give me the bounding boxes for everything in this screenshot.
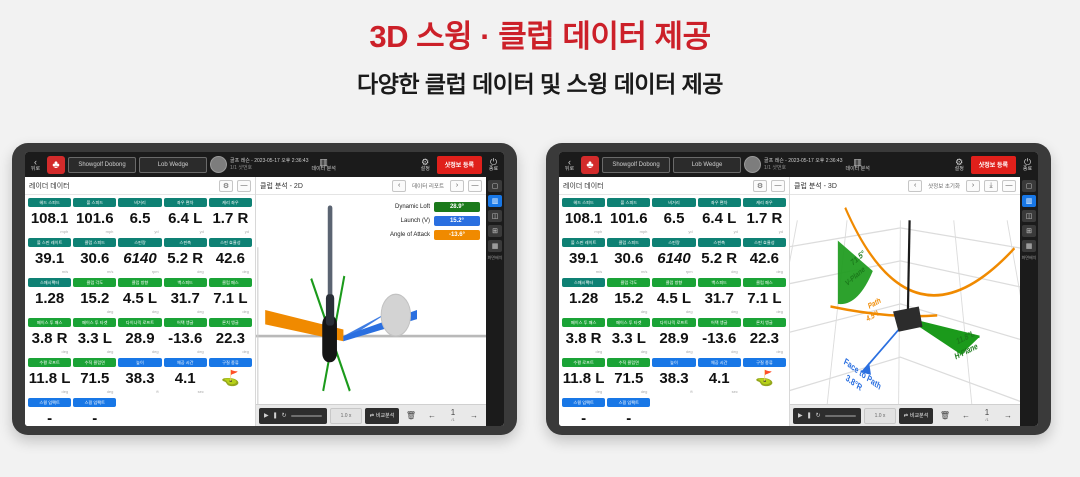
settings-button[interactable]: ⚙ 설정 bbox=[951, 154, 968, 176]
radar-pane-title: 레이더 데이터 bbox=[563, 181, 604, 191]
club-analysis-pane-3d: 클럽 분석 - 3D ‹ 샷정보 초기화 › ⤓ — bbox=[790, 177, 1020, 426]
badge-value: -13.6° bbox=[434, 230, 480, 240]
radar-cell-label: 클럽 각도 bbox=[73, 278, 116, 287]
radar-pane-header-left: 레이더 데이터 ⚙ — bbox=[25, 177, 255, 195]
radar-cell[interactable]: 클럽 방향4.5 Ldeg bbox=[118, 278, 161, 316]
club-2d-canvas[interactable]: Dynamic Loft 28.9° Launch (V) 15.2° Angl… bbox=[256, 195, 486, 404]
radar-cell[interactable]: 어택 앵글-13.6deg bbox=[698, 318, 741, 356]
radar-cell-unit: deg bbox=[607, 349, 650, 356]
radar-cell-label: 캐리 좌우 bbox=[743, 198, 786, 207]
radar-cell[interactable]: 다이나믹 로프트28.9deg bbox=[652, 318, 695, 356]
club-selector[interactable]: Lob Wedge bbox=[139, 157, 207, 173]
playback-speed[interactable]: 1.0 x bbox=[330, 408, 362, 424]
radar-cell[interactable]: 스핀량6140rpm bbox=[118, 238, 161, 276]
analysis-label: 데이터 분석 bbox=[845, 167, 869, 172]
layout-quad-icon[interactable]: ⊞ bbox=[488, 225, 502, 237]
radar-cell-unit: deg bbox=[607, 309, 650, 316]
gear-icon[interactable]: ⚙ bbox=[753, 180, 767, 192]
radar-cell[interactable]: 스매시팩터1.28 bbox=[562, 278, 605, 316]
radar-cell-unit: deg bbox=[652, 309, 695, 316]
radar-cell[interactable]: 페이스 투 패스3.8 Rdeg bbox=[28, 318, 71, 356]
app-top-bar-right: ‹ 뒤로 ♣ Showgolf Dobong Lob Wedge 골프 레슨 -… bbox=[559, 152, 1038, 177]
radar-cell[interactable]: 스핀량6140rpm bbox=[652, 238, 695, 276]
loop-icon[interactable]: ↻ bbox=[282, 412, 287, 419]
radar-cell-label: 수직 클럽면 bbox=[607, 358, 650, 367]
radar-cell-label: 클럽 스피드 bbox=[73, 238, 116, 247]
radar-cell-unit: rpm bbox=[118, 269, 161, 276]
radar-data-pane-right: 레이더 데이터 ⚙ — 헤드 스피드108.1mph볼 스피드101.6mph비… bbox=[559, 177, 790, 426]
shot-number-label: 1/1 샷번호 bbox=[764, 165, 842, 172]
radar-cell-label: 스윙 임팩트 bbox=[562, 398, 605, 407]
compare-icon: ⇄ bbox=[904, 413, 908, 419]
radar-cell-label: 비거리 bbox=[118, 198, 161, 207]
radar-cell-label: 스윙 임팩트 bbox=[28, 398, 71, 407]
play-icon[interactable]: ▶ bbox=[264, 412, 269, 419]
radar-cell-value: 30.6 bbox=[607, 247, 650, 269]
radar-pane-header-right: 레이더 데이터 ⚙ — bbox=[559, 177, 789, 195]
radar-cell-value: ⛳ bbox=[209, 367, 252, 389]
shot-session-label: 골프 레슨 - 2023-05-17 오후 2:36:43 bbox=[230, 158, 308, 165]
app-body-right: 레이더 데이터 ⚙ — 헤드 스피드108.1mph볼 스피드101.6mph비… bbox=[559, 177, 1038, 426]
radar-cell[interactable]: 체공 시간4.1sec bbox=[164, 358, 207, 396]
radar-data-grid-left: 헤드 스피드108.1mph볼 스피드101.6mph비거리6.5yd좌우 편차… bbox=[25, 195, 255, 426]
playback-track[interactable]: ▶ ❚ ↻ bbox=[259, 408, 327, 424]
club-3d-canvas[interactable]: 71.5° V-Plane Path 4.5°L Face to Path 3.… bbox=[790, 195, 1020, 404]
minimize-icon[interactable]: — bbox=[237, 180, 251, 192]
analysis-button[interactable]: ▥ 데이터 분석 bbox=[311, 154, 335, 176]
radar-cell-value: 30.6 bbox=[73, 247, 116, 269]
radar-cell-value: 3.3 L bbox=[73, 327, 116, 349]
radar-cell-value: 1.28 bbox=[28, 287, 71, 309]
exit-button[interactable]: ⏻ 종료 bbox=[485, 154, 502, 176]
radar-cell-unit: deg bbox=[209, 349, 252, 356]
analysis-label: 데이터 분석 bbox=[311, 167, 335, 172]
radar-cell-label: 페이스 투 타겟 bbox=[607, 318, 650, 327]
shot-meta: 골프 레슨 - 2023-05-17 오후 2:36:43 1/1 샷번호 bbox=[230, 158, 308, 172]
club-3d-header: 클럽 분석 - 3D ‹ 샷정보 초기화 › ⤓ — bbox=[790, 177, 1020, 195]
radar-cell[interactable]: 볼 스피드101.6mph bbox=[73, 198, 116, 236]
step-icon[interactable]: ❚ bbox=[807, 412, 812, 419]
minimize-icon[interactable]: — bbox=[468, 180, 482, 192]
radar-cell-label: 스핑 임팩트 bbox=[607, 398, 650, 407]
compare-label: 비교분석 bbox=[376, 412, 394, 419]
playback-speed[interactable]: 1.0 x bbox=[864, 408, 896, 424]
radar-cell[interactable]: 백스피드31.7deg bbox=[164, 278, 207, 316]
layout-grid-icon[interactable]: ▦ bbox=[1022, 240, 1036, 252]
radar-cell[interactable]: 클럽 방향4.5 Ldeg bbox=[652, 278, 695, 316]
radar-cell-value: 5.2 R bbox=[698, 247, 741, 269]
page-total: /1 bbox=[985, 417, 988, 422]
headings-block: 3D 스윙 · 클럽 데이터 제공 다양한 클럽 데이터 및 스윙 데이터 제공 bbox=[0, 0, 1080, 99]
radar-cell-label: 백스피드 bbox=[164, 278, 207, 287]
radar-cell-value: 22.3 bbox=[209, 327, 252, 349]
radar-cell[interactable]: 페이스 투 타겟3.3 Ldeg bbox=[73, 318, 116, 356]
rail-footer-label: 화면배치 bbox=[1022, 255, 1037, 260]
radar-cell[interactable]: 체공 시간4.1sec bbox=[698, 358, 741, 396]
bottom-toolbar-right: ▶ ❚ ↻ 1.0 x ⇄ 비교분석 🗑 ← 1 bbox=[790, 404, 1020, 426]
radar-cell-label: 클럽 패스 bbox=[743, 278, 786, 287]
radar-cell-label: 어택 앵글 bbox=[698, 318, 741, 327]
radar-cell-unit: yd bbox=[164, 229, 207, 236]
radar-cell-label: 다이나믹 로프트 bbox=[118, 318, 161, 327]
radar-cell-label: 볼 스핀 레이트 bbox=[28, 238, 71, 247]
club-2d-badges: Dynamic Loft 28.9° Launch (V) 15.2° Angl… bbox=[390, 202, 480, 240]
radar-cell-label: 다이나믹 로프트 bbox=[652, 318, 695, 327]
radar-cell[interactable]: 수평 로프트11.8 Ldeg bbox=[562, 358, 605, 396]
radar-cell-unit: yd bbox=[118, 229, 161, 236]
radar-cell[interactable]: 스윙 임팩트-deg bbox=[562, 398, 605, 426]
radar-cell-label: 스핀축 bbox=[164, 238, 207, 247]
layout-split-icon[interactable]: ▥ bbox=[1022, 195, 1036, 207]
compare-button[interactable]: ⇄ 비교분석 bbox=[365, 408, 399, 424]
radar-cell-value: - bbox=[607, 407, 650, 426]
radar-cell[interactable]: 스핀 효율성42.6deg bbox=[209, 238, 252, 276]
radar-cell[interactable]: 다이나믹 로프트28.9deg bbox=[118, 318, 161, 356]
club-analysis-pane-2d: 클럽 분석 - 2D ‹ 데이터 리포트 › — Dynamic Loft 28… bbox=[256, 177, 486, 426]
radar-cell-unit: yd bbox=[698, 229, 741, 236]
radar-cell-value: 3.3 L bbox=[607, 327, 650, 349]
radar-cell-unit: deg bbox=[743, 309, 786, 316]
radar-cell-value: 6140 bbox=[118, 247, 161, 269]
radar-data-pane-left: 레이더 데이터 ⚙ — 헤드 스피드108.1mph볼 스피드101.6mph비… bbox=[25, 177, 256, 426]
radar-cell[interactable]: 클럽 패스7.1 Ldeg bbox=[743, 278, 786, 316]
radar-cell[interactable]: 볼 스피드101.6mph bbox=[607, 198, 650, 236]
ball-icon bbox=[210, 156, 227, 173]
radar-cell-label: 페이스 투 패스 bbox=[562, 318, 605, 327]
arrow-left-icon[interactable]: ← bbox=[957, 408, 975, 424]
radar-cell-value: 3.8 R bbox=[28, 327, 71, 349]
radar-cell-value: 11.8 L bbox=[28, 367, 71, 389]
settings-label: 설정 bbox=[955, 167, 964, 172]
badge-dynamic-loft: Dynamic Loft 28.9° bbox=[390, 202, 480, 212]
radar-cell-value: 1.7 R bbox=[743, 207, 786, 229]
radar-cell-label: 페이스 투 타겟 bbox=[73, 318, 116, 327]
layout-quad-icon[interactable]: ⊞ bbox=[1022, 225, 1036, 237]
club-selector[interactable]: Lob Wedge bbox=[673, 157, 741, 173]
radar-cell-value: 4.1 bbox=[698, 367, 741, 389]
timeline-scrubber[interactable] bbox=[825, 415, 856, 417]
radar-cell-label: 클럽 방향 bbox=[652, 278, 695, 287]
badge-value: 28.9° bbox=[434, 202, 480, 212]
exit-button[interactable]: ⏻ 종료 bbox=[1019, 154, 1036, 176]
radar-cell-value: 1.28 bbox=[562, 287, 605, 309]
layout-sidebar-icon[interactable]: ◫ bbox=[488, 210, 502, 222]
radar-cell[interactable]: 헤드 스피드108.1mph bbox=[562, 198, 605, 236]
radar-cell-unit: deg bbox=[164, 349, 207, 356]
badge-value: 15.2° bbox=[434, 216, 480, 226]
radar-cell-value: 108.1 bbox=[28, 207, 71, 229]
page-number: 1 bbox=[451, 409, 455, 417]
radar-cell-label: 볼 스핀 레이트 bbox=[562, 238, 605, 247]
radar-cell[interactable]: 스핑 임팩트-deg bbox=[607, 398, 650, 426]
record-shot-button[interactable]: 샷정보 등록 bbox=[971, 156, 1016, 174]
app-logo-icon: ♣ bbox=[47, 156, 65, 174]
radar-cell-unit: m/s bbox=[607, 269, 650, 276]
radar-cell-unit: deg bbox=[209, 269, 252, 276]
play-icon[interactable]: ▶ bbox=[798, 412, 803, 419]
radar-cell[interactable]: 비거리6.5yd bbox=[652, 198, 695, 236]
radar-cell[interactable]: 캐리 좌우1.7 Ryd bbox=[743, 198, 786, 236]
shot-number-label: 1/1 샷번호 bbox=[230, 165, 308, 172]
radar-cell-unit: yd bbox=[652, 229, 695, 236]
page-number: 1 bbox=[985, 409, 989, 417]
app-top-bar-left: ‹ 뒤로 ♣ Showgolf Dobong Lob Wedge 골프 레슨 -… bbox=[25, 152, 504, 177]
radar-cell-unit: deg bbox=[743, 349, 786, 356]
radar-cell-label: 체공 시간 bbox=[164, 358, 207, 367]
chevron-left-icon[interactable]: ‹ bbox=[392, 180, 406, 192]
radar-cell-unit: deg bbox=[698, 269, 741, 276]
radar-cell-label: 비거리 bbox=[652, 198, 695, 207]
gear-icon[interactable]: ⚙ bbox=[219, 180, 233, 192]
radar-cell-unit bbox=[209, 389, 252, 396]
radar-cell-label: 수직 클럽면 bbox=[73, 358, 116, 367]
radar-cell-value: 6.4 L bbox=[164, 207, 207, 229]
arrow-right-icon[interactable]: → bbox=[999, 408, 1017, 424]
radar-cell-unit bbox=[28, 309, 71, 316]
radar-cell[interactable]: 수직 클럽면71.5deg bbox=[73, 358, 116, 396]
radar-cell-value: 15.2 bbox=[607, 287, 650, 309]
radar-cell-label: 좌우 편차 bbox=[164, 198, 207, 207]
loop-icon[interactable]: ↻ bbox=[816, 412, 821, 419]
page-subtitle: 다양한 클럽 데이터 및 스윙 데이터 제공 bbox=[0, 65, 1080, 99]
page-root: 3D 스윙 · 클럽 데이터 제공 다양한 클럽 데이터 및 스윙 데이터 제공… bbox=[0, 0, 1080, 477]
radar-cell[interactable]: 론치 앵글22.3deg bbox=[743, 318, 786, 356]
radar-cell-label: 페이스 투 패스 bbox=[28, 318, 71, 327]
radar-cell[interactable]: 헤드 스피드108.1mph bbox=[28, 198, 71, 236]
radar-cell-unit: deg bbox=[698, 349, 741, 356]
layout-sidebar-icon[interactable]: ◫ bbox=[1022, 210, 1036, 222]
radar-cell[interactable]: 좌우 편차6.4 Lyd bbox=[164, 198, 207, 236]
back-label: 뒤로 bbox=[565, 167, 574, 172]
radar-cell-label: 스핀축 bbox=[698, 238, 741, 247]
radar-cell-value: - bbox=[73, 407, 116, 426]
radar-cell-value: 7.1 L bbox=[743, 287, 786, 309]
badge-label: Launch (V) bbox=[401, 218, 430, 224]
radar-cell-unit: yd bbox=[209, 229, 252, 236]
radar-cell[interactable]: 구질 종류⛳ bbox=[743, 358, 786, 396]
page-total: /1 bbox=[451, 417, 454, 422]
radar-cell[interactable]: 페이스 투 타겟3.3 Ldeg bbox=[607, 318, 650, 356]
radar-cell-value: 101.6 bbox=[607, 207, 650, 229]
timeline-scrubber[interactable] bbox=[291, 415, 322, 417]
radar-cell-label: 클럽 스피드 bbox=[607, 238, 650, 247]
radar-cell-value: - bbox=[562, 407, 605, 426]
radar-cell-value: 31.7 bbox=[164, 287, 207, 309]
radar-cell-value: 4.5 L bbox=[118, 287, 161, 309]
radar-cell-value: 15.2 bbox=[73, 287, 116, 309]
radar-cell[interactable]: 볼 스핀 레이트39.1m/s bbox=[28, 238, 71, 276]
playback-track[interactable]: ▶ ❚ ↻ bbox=[793, 408, 861, 424]
radar-cell[interactable]: 캐리 좌우1.7 Ryd bbox=[209, 198, 252, 236]
radar-cell[interactable]: 수평 로프트11.8 Ldeg bbox=[28, 358, 71, 396]
radar-cell-unit: deg bbox=[607, 389, 650, 396]
radar-pane-title: 레이더 데이터 bbox=[29, 181, 70, 191]
radar-cell[interactable]: 스핀축5.2 Rdeg bbox=[164, 238, 207, 276]
radar-cell-unit: deg bbox=[118, 349, 161, 356]
radar-cell[interactable]: 스핀축5.2 Rdeg bbox=[698, 238, 741, 276]
back-label: 뒤로 bbox=[31, 167, 40, 172]
radar-cell-unit: ft bbox=[118, 389, 161, 396]
exit-label: 종료 bbox=[489, 167, 498, 172]
record-shot-button[interactable]: 샷정보 등록 bbox=[437, 156, 482, 174]
reset-label: 샷정보 초기화 bbox=[926, 182, 962, 190]
radar-cell-unit: sec bbox=[164, 389, 207, 396]
radar-cell-unit: deg bbox=[652, 349, 695, 356]
radar-cell-label: 클럽 각도 bbox=[607, 278, 650, 287]
radar-cell[interactable]: 클럽 스피드30.6m/s bbox=[73, 238, 116, 276]
radar-cell-label: 높이 bbox=[652, 358, 695, 367]
layout-split-icon[interactable]: ▥ bbox=[488, 195, 502, 207]
report-label: 데이터 리포트 bbox=[410, 182, 446, 190]
trash-icon[interactable]: 🗑 bbox=[402, 408, 420, 424]
radar-cell-unit: deg bbox=[73, 309, 116, 316]
radar-cell-value: - bbox=[28, 407, 71, 426]
radar-cell-label: 론치 앵글 bbox=[743, 318, 786, 327]
radar-cell-label: 높이 bbox=[118, 358, 161, 367]
store-selector[interactable]: Showgolf Dobong bbox=[68, 157, 136, 173]
radar-cell-value: 6.4 L bbox=[698, 207, 741, 229]
rail-footer-label: 화면배치 bbox=[488, 255, 503, 260]
radar-cell[interactable]: 비거리6.5yd bbox=[118, 198, 161, 236]
radar-cell-unit: deg bbox=[73, 389, 116, 396]
radar-cell-unit: deg bbox=[164, 309, 207, 316]
radar-cell[interactable]: 론치 앵글22.3deg bbox=[209, 318, 252, 356]
radar-cell[interactable]: 클럽 패스7.1 Ldeg bbox=[209, 278, 252, 316]
radar-cell[interactable]: 스핑 임팩트-deg bbox=[73, 398, 116, 426]
radar-cell-label: 수평 로프트 bbox=[562, 358, 605, 367]
radar-cell[interactable]: 높이38.3ft bbox=[652, 358, 695, 396]
radar-cell-unit: deg bbox=[164, 269, 207, 276]
radar-cell[interactable]: 클럽 각도15.2deg bbox=[607, 278, 650, 316]
chevron-right-icon[interactable]: › bbox=[450, 180, 464, 192]
arrow-left-icon[interactable]: ← bbox=[423, 408, 441, 424]
radar-cell[interactable]: 페이스 투 패스3.8 Rdeg bbox=[562, 318, 605, 356]
radar-cell-unit: m/s bbox=[562, 269, 605, 276]
radar-cell-label: 캐리 좌우 bbox=[209, 198, 252, 207]
radar-cell-unit bbox=[562, 309, 605, 316]
radar-cell[interactable]: 스윙 임팩트-deg bbox=[28, 398, 71, 426]
radar-cell-value: 42.6 bbox=[209, 247, 252, 269]
back-button[interactable]: ‹ 뒤로 bbox=[27, 154, 44, 176]
step-icon[interactable]: ❚ bbox=[273, 412, 278, 419]
layout-rail-left: ▢ ▥ ◫ ⊞ ▦ 화면배치 bbox=[486, 177, 504, 426]
radar-cell-value: 6140 bbox=[652, 247, 695, 269]
minimize-icon[interactable]: — bbox=[771, 180, 785, 192]
radar-cell-label: 어택 앵글 bbox=[164, 318, 207, 327]
radar-cell-value: 4.5 L bbox=[652, 287, 695, 309]
radar-cell-value: 38.3 bbox=[652, 367, 695, 389]
radar-cell-unit: deg bbox=[743, 269, 786, 276]
radar-cell[interactable]: 구질 종류⛳ bbox=[209, 358, 252, 396]
radar-cell[interactable]: 스매시팩터1.28 bbox=[28, 278, 71, 316]
radar-cell-unit: mph bbox=[562, 229, 605, 236]
radar-cell-label: 클럽 패스 bbox=[209, 278, 252, 287]
radar-cell-unit: mph bbox=[607, 229, 650, 236]
radar-cell-value: 5.2 R bbox=[164, 247, 207, 269]
radar-cell[interactable]: 스핀 효율성42.6deg bbox=[743, 238, 786, 276]
reset-view-icon[interactable]: ⤓ bbox=[984, 180, 998, 192]
radar-cell-value: 7.1 L bbox=[209, 287, 252, 309]
chevron-left-icon[interactable]: ‹ bbox=[908, 180, 922, 192]
compare-label: 비교분석 bbox=[910, 412, 928, 419]
radar-cell-value: 71.5 bbox=[607, 367, 650, 389]
radar-cell-unit: deg bbox=[562, 389, 605, 396]
radar-cell[interactable]: 클럽 각도15.2deg bbox=[73, 278, 116, 316]
radar-cell-value: 38.3 bbox=[118, 367, 161, 389]
radar-cell-label: 스핀 효율성 bbox=[743, 238, 786, 247]
radar-cell-unit: deg bbox=[28, 389, 71, 396]
radar-cell[interactable]: 볼 스핀 레이트39.1m/s bbox=[562, 238, 605, 276]
radar-cell-label: 좌우 편차 bbox=[698, 198, 741, 207]
radar-cell-label: 체공 시간 bbox=[698, 358, 741, 367]
compare-icon: ⇄ bbox=[370, 413, 374, 419]
club-2d-header: 클럽 분석 - 2D ‹ 데이터 리포트 › — bbox=[256, 177, 486, 195]
radar-data-grid-right: 헤드 스피드108.1mph볼 스피드101.6mph비거리6.5yd좌우 편차… bbox=[559, 195, 789, 426]
arrow-right-icon[interactable]: → bbox=[465, 408, 483, 424]
club-2d-title: 클럽 분석 - 2D bbox=[260, 181, 303, 191]
app-body-left: 레이더 데이터 ⚙ — 헤드 스피드108.1mph볼 스피드101.6mph비… bbox=[25, 177, 504, 426]
radar-cell[interactable]: 백스피드31.7deg bbox=[698, 278, 741, 316]
tablet-right: ‹ 뒤로 ♣ Showgolf Dobong Lob Wedge 골프 레슨 -… bbox=[546, 143, 1051, 435]
radar-cell-label: 클럽 방향 bbox=[118, 278, 161, 287]
radar-cell-unit: deg bbox=[28, 349, 71, 356]
radar-cell[interactable]: 수직 클럽면71.5deg bbox=[607, 358, 650, 396]
radar-cell-value: 3.8 R bbox=[562, 327, 605, 349]
radar-cell-unit: rpm bbox=[652, 269, 695, 276]
back-button[interactable]: ‹ 뒤로 bbox=[561, 154, 578, 176]
compare-button[interactable]: ⇄ 비교분석 bbox=[899, 408, 933, 424]
radar-cell-label: 스핀량 bbox=[118, 238, 161, 247]
radar-cell-unit bbox=[743, 389, 786, 396]
badge-label: Angle of Attack bbox=[390, 232, 430, 238]
radar-cell-value: 39.1 bbox=[28, 247, 71, 269]
radar-cell-value: 101.6 bbox=[73, 207, 116, 229]
radar-cell-value: 11.8 L bbox=[562, 367, 605, 389]
radar-cell-unit: mph bbox=[73, 229, 116, 236]
radar-cell-value: 4.1 bbox=[164, 367, 207, 389]
radar-cell-label: 스매시팩터 bbox=[28, 278, 71, 287]
radar-cell-value: ⛳ bbox=[743, 367, 786, 389]
radar-cell-label: 헤드 스피드 bbox=[28, 198, 71, 207]
layout-rail-right: ▢ ▥ ◫ ⊞ ▦ 화면배치 bbox=[1020, 177, 1038, 426]
trash-icon[interactable]: 🗑 bbox=[936, 408, 954, 424]
radar-cell[interactable]: 좌우 편차6.4 Lyd bbox=[698, 198, 741, 236]
radar-cell-unit: deg bbox=[698, 309, 741, 316]
radar-cell-value: 31.7 bbox=[698, 287, 741, 309]
radar-cell-label: 볼 스피드 bbox=[607, 198, 650, 207]
store-selector[interactable]: Showgolf Dobong bbox=[602, 157, 670, 173]
ball-icon bbox=[744, 156, 761, 173]
page-indicator: 1 /1 bbox=[444, 408, 462, 424]
layout-single-icon[interactable]: ▢ bbox=[1022, 180, 1036, 192]
radar-cell[interactable]: 클럽 스피드30.6m/s bbox=[607, 238, 650, 276]
layout-grid-icon[interactable]: ▦ bbox=[488, 240, 502, 252]
radar-cell[interactable]: 높이38.3ft bbox=[118, 358, 161, 396]
radar-cell-value: 71.5 bbox=[73, 367, 116, 389]
radar-cell-unit: yd bbox=[743, 229, 786, 236]
radar-cell-unit: deg bbox=[209, 309, 252, 316]
badge-label: Dynamic Loft bbox=[395, 204, 430, 210]
radar-cell[interactable]: 어택 앵글-13.6deg bbox=[164, 318, 207, 356]
radar-cell-unit: m/s bbox=[73, 269, 116, 276]
radar-cell-label: 헤드 스피드 bbox=[562, 198, 605, 207]
layout-single-icon[interactable]: ▢ bbox=[488, 180, 502, 192]
radar-cell-label: 볼 스피드 bbox=[73, 198, 116, 207]
analysis-button[interactable]: ▥ 데이터 분석 bbox=[845, 154, 869, 176]
chevron-right-icon[interactable]: › bbox=[966, 180, 980, 192]
minimize-icon[interactable]: — bbox=[1002, 180, 1016, 192]
settings-button[interactable]: ⚙ 설정 bbox=[417, 154, 434, 176]
